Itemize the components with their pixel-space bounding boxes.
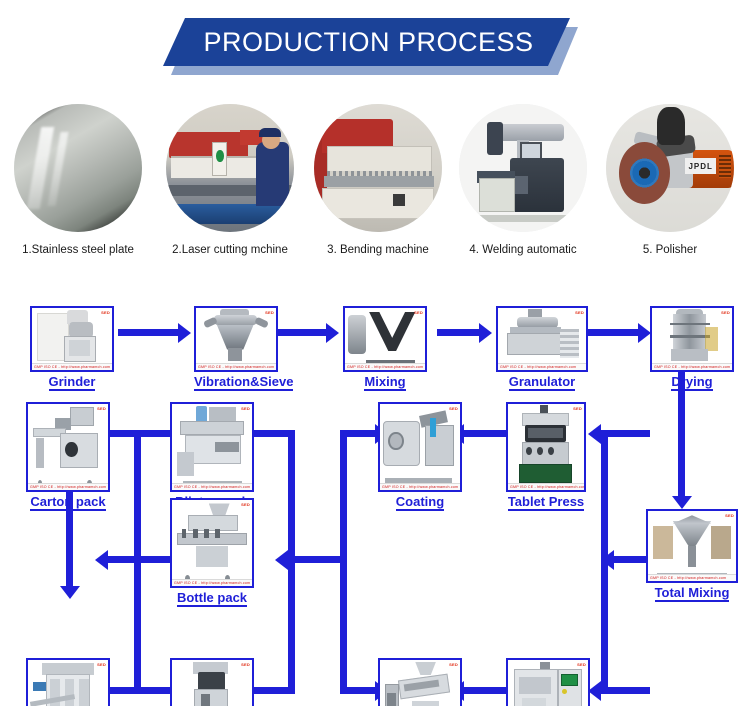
watermark-strip: GMP ISO CE - http://www.pharmamch.com bbox=[508, 483, 584, 490]
connector-trunk-to-bottle-pack bbox=[288, 556, 347, 563]
flow-node-tablet-press[interactable]: SED GMP ISO CE - http://www.pharmamch.co… bbox=[506, 402, 586, 509]
flow-node-granulator[interactable]: SED GMP ISO CE - http://www.pharmamch.co… bbox=[496, 306, 588, 389]
flow-label-total-mixing: Total Mixing bbox=[646, 585, 738, 600]
connector-bottle-to-trunk bbox=[134, 556, 170, 563]
watermark-corner: SED bbox=[577, 662, 586, 667]
connector-trunk-to-bottle-pack-left bbox=[108, 556, 138, 563]
watermark-corner: SED bbox=[721, 310, 730, 315]
flow-label-tablet-press: Tablet Press bbox=[506, 494, 586, 509]
banner-shape: PRODUCTION PROCESS bbox=[163, 18, 570, 66]
flow-label-bottle-pack: Bottle pack bbox=[170, 590, 254, 605]
stainless-steel-plate-photo bbox=[14, 104, 142, 232]
step-2-caption: 2.Laser cutting mchine bbox=[160, 244, 300, 256]
drying-thumbnail: SED GMP ISO CE - http://www.pharmamch.co… bbox=[650, 306, 734, 372]
flow-label-carton-pack: Carton pack bbox=[26, 494, 110, 509]
connector-leftmid-trunk bbox=[288, 430, 295, 694]
watermark-strip: GMP ISO CE - http://www.pharmamch.com bbox=[498, 363, 586, 370]
coating-thumbnail: SED GMP ISO CE - http://www.pharmamch.co… bbox=[378, 402, 462, 492]
flow-node-grinder[interactable]: SED GMP ISO CE - http://www.pharmamch.co… bbox=[30, 306, 114, 389]
watermark-corner: SED bbox=[725, 513, 734, 518]
flow-label-vibration-sieve: Vibration&Sieve bbox=[194, 374, 278, 389]
connector-coating-in-from-trunk bbox=[340, 430, 377, 437]
step-3-caption: 3. Bending machine bbox=[308, 244, 448, 256]
flow-node-drying[interactable]: SED GMP ISO CE - http://www.pharmamch.co… bbox=[650, 306, 734, 389]
watermark-corner: SED bbox=[241, 662, 250, 667]
flow-node-box-wrapper[interactable]: SED GMP ISO CE - http://www.pharmamch.co… bbox=[26, 658, 110, 706]
arrowhead-right bbox=[178, 323, 191, 343]
process-step-5: JPDL 5. Polisher bbox=[600, 104, 740, 256]
polisher-photo: JPDL bbox=[606, 104, 734, 232]
production-flowchart: SED GMP ISO CE - http://www.pharmamch.co… bbox=[0, 292, 750, 706]
process-step-4: 4. Welding automatic bbox=[453, 104, 593, 256]
watermark-strip: GMP ISO CE - http://www.pharmamch.com bbox=[652, 363, 732, 370]
flow-node-mixing[interactable]: SED GMP ISO CE - http://www.pharmamch.co… bbox=[343, 306, 427, 389]
connector-bag-to-trunk bbox=[134, 687, 170, 694]
watermark-corner: SED bbox=[573, 406, 582, 411]
watermark-corner: SED bbox=[414, 310, 423, 315]
watermark-strip: GMP ISO CE - http://www.pharmamch.com bbox=[28, 483, 108, 490]
watermark-strip: GMP ISO CE - http://www.pharmamch.com bbox=[32, 363, 112, 370]
watermark-strip: GMP ISO CE - http://www.pharmamch.com bbox=[648, 574, 736, 581]
carton-pack-thumbnail: SED GMP ISO CE - http://www.pharmamch.co… bbox=[26, 402, 110, 492]
connector-trunk-to-tablet-press bbox=[601, 430, 650, 437]
flow-label-coating: Coating bbox=[378, 494, 462, 509]
arrowhead-down bbox=[672, 496, 692, 509]
connector-trunk-to-capsule-filling bbox=[601, 687, 650, 694]
watermark-corner: SED bbox=[575, 310, 584, 315]
welding-automatic-photo bbox=[459, 104, 587, 232]
flow-label-granulator: Granulator bbox=[496, 374, 588, 389]
watermark-corner: SED bbox=[449, 662, 458, 667]
process-step-2: 2.Laser cutting mchine bbox=[160, 104, 300, 256]
arrowhead-left bbox=[588, 424, 601, 444]
arrowhead-right bbox=[479, 323, 492, 343]
watermark-corner: SED bbox=[101, 310, 110, 315]
connector-granulator-to-drying bbox=[588, 329, 640, 336]
flow-node-capsule-filling[interactable]: SED GMP ISO CE - http://www.pharmamch.co… bbox=[506, 658, 590, 706]
bottle-pack-thumbnail: SED GMP ISO CE - http://www.pharmamch.co… bbox=[170, 498, 254, 588]
flow-node-coating[interactable]: SED GMP ISO CE - http://www.pharmamch.co… bbox=[378, 402, 462, 509]
watermark-corner: SED bbox=[449, 406, 458, 411]
process-step-1: 1.Stainless steel plate bbox=[8, 104, 148, 256]
tablet-press-thumbnail: SED GMP ISO CE - http://www.pharmamch.co… bbox=[506, 402, 586, 492]
flow-node-blister-pack[interactable]: SED GMP ISO CE - http://www.pharmamch.co… bbox=[170, 402, 254, 509]
step-1-caption: 1.Stainless steel plate bbox=[8, 244, 148, 256]
connector-right-trunk bbox=[601, 430, 608, 694]
watermark-corner: SED bbox=[265, 310, 274, 315]
flow-node-bag-pack[interactable]: SED GMP ISO CE - http://www.pharmamch.co… bbox=[170, 658, 254, 706]
polisher-brand-label: JPDL bbox=[685, 158, 716, 175]
polisher-thumbnail: SED GMP ISO CE - http://www.pharmamch.co… bbox=[378, 658, 462, 706]
watermark-corner: SED bbox=[241, 502, 250, 507]
total-mixing-thumbnail: SED GMP ISO CE - http://www.pharmamch.co… bbox=[646, 509, 738, 583]
laser-cutting-machine-photo bbox=[166, 104, 294, 232]
capsule-filling-thumbnail: SED GMP ISO CE - http://www.pharmamch.co… bbox=[506, 658, 590, 706]
watermark-strip: GMP ISO CE - http://www.pharmamch.com bbox=[172, 483, 252, 490]
process-step-3: 3. Bending machine bbox=[308, 104, 448, 256]
connector-blister-to-trunk bbox=[134, 430, 170, 437]
flow-label-grinder: Grinder bbox=[30, 374, 114, 389]
flow-node-polisher[interactable]: SED GMP ISO CE - http://www.pharmamch.co… bbox=[378, 658, 462, 706]
connector-trunk-to-blister-pack bbox=[252, 430, 295, 437]
arrowhead-left bbox=[275, 550, 288, 570]
grinder-thumbnail: SED GMP ISO CE - http://www.pharmamch.co… bbox=[30, 306, 114, 372]
watermark-strip: GMP ISO CE - http://www.pharmamch.com bbox=[345, 363, 425, 370]
flow-label-mixing: Mixing bbox=[343, 374, 427, 389]
watermark-corner: SED bbox=[241, 406, 250, 411]
connector-tablet-press-to-coating bbox=[464, 430, 506, 437]
arrowhead-right bbox=[326, 323, 339, 343]
watermark-strip: GMP ISO CE - http://www.pharmamch.com bbox=[380, 483, 460, 490]
connector-capsule-to-polisher bbox=[464, 687, 506, 694]
bending-machine-photo bbox=[314, 104, 442, 232]
watermark-strip: GMP ISO CE - http://www.pharmamch.com bbox=[196, 363, 276, 370]
vibration-sieve-thumbnail: SED GMP ISO CE - http://www.pharmamch.co… bbox=[194, 306, 278, 372]
connector-trunk-to-carton-pack bbox=[108, 430, 138, 437]
production-process-infographic: PRODUCTION PROCESS 1.Stainless steel pla… bbox=[0, 0, 750, 706]
watermark-corner: SED bbox=[97, 662, 106, 667]
step-4-caption: 4. Welding automatic bbox=[453, 244, 593, 256]
flow-node-total-mixing[interactable]: SED GMP ISO CE - http://www.pharmamch.co… bbox=[646, 509, 738, 600]
connector-mixing-to-granulator bbox=[437, 329, 481, 336]
connector-grinder-to-vibration bbox=[118, 329, 180, 336]
mixing-thumbnail: SED GMP ISO CE - http://www.pharmamch.co… bbox=[343, 306, 427, 372]
watermark-corner: SED bbox=[97, 406, 106, 411]
flow-label-drying: Drying bbox=[650, 374, 734, 389]
connector-vibration-to-mixing bbox=[278, 329, 328, 336]
box-wrapper-thumbnail: SED GMP ISO CE - http://www.pharmamch.co… bbox=[26, 658, 110, 706]
flow-node-vibration-sieve[interactable]: SED GMP ISO CE - http://www.pharmamch.co… bbox=[194, 306, 278, 389]
connector-trunk-to-bag-pack bbox=[252, 687, 295, 694]
arrowhead-left bbox=[95, 550, 108, 570]
blister-pack-thumbnail: SED GMP ISO CE - http://www.pharmamch.co… bbox=[170, 402, 254, 492]
step-5-caption: 5. Polisher bbox=[600, 244, 740, 256]
flow-node-bottle-pack[interactable]: SED GMP ISO CE - http://www.pharmamch.co… bbox=[170, 498, 254, 605]
connector-polisher-in-from-trunk bbox=[340, 687, 377, 694]
page-title-banner: PRODUCTION PROCESS bbox=[163, 18, 578, 70]
page-title: PRODUCTION PROCESS bbox=[199, 27, 533, 58]
flow-node-carton-pack[interactable]: SED GMP ISO CE - http://www.pharmamch.co… bbox=[26, 402, 110, 509]
arrowhead-down bbox=[60, 586, 80, 599]
granulator-thumbnail: SED GMP ISO CE - http://www.pharmamch.co… bbox=[496, 306, 588, 372]
connector-trunk-to-box-wrapper-left bbox=[108, 687, 138, 694]
bag-pack-thumbnail: SED GMP ISO CE - http://www.pharmamch.co… bbox=[170, 658, 254, 706]
watermark-strip: GMP ISO CE - http://www.pharmamch.com bbox=[172, 579, 252, 586]
